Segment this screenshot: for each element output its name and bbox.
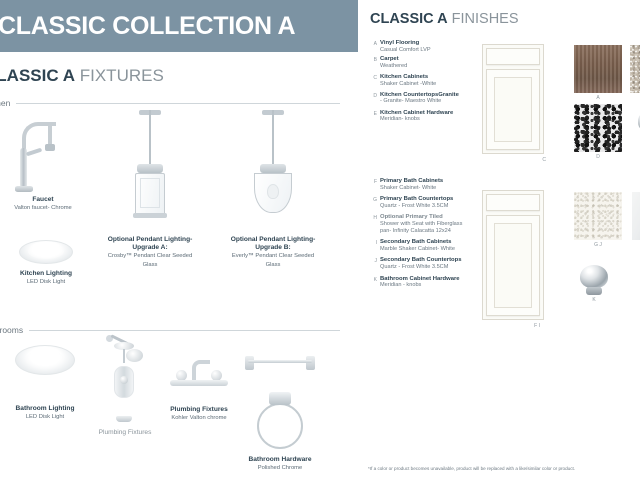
legend-item: K Bathroom Cabinet Hardware Meridian - k… xyxy=(368,276,472,289)
pendant-b-icon xyxy=(236,110,310,228)
legend-title: Primary Bath Countertops xyxy=(380,196,453,202)
legend-key: A xyxy=(368,40,380,53)
kitchen-cabinet-door-swatch: C xyxy=(482,44,544,154)
finishes-heading-bold: CLASSIC A xyxy=(370,11,448,27)
legend-title: Carpet xyxy=(380,56,399,62)
legend-title: Kitchen Cabinet Hardware xyxy=(380,110,453,116)
swatch-label: C xyxy=(542,157,546,163)
legend-desc: Shower with Seat with Fiberglass pan- In… xyxy=(380,221,472,234)
fixture-caption: Optional Pendant Lighting- Upgrade B: Ev… xyxy=(228,236,318,269)
legend-item: A Vinyl Flooring Casual Comfort LVP xyxy=(368,40,472,53)
legend-key: B xyxy=(368,56,380,69)
fixture-desc: LED Disk Light xyxy=(5,413,85,421)
legend-key: F xyxy=(368,178,380,191)
fixture-caption: Faucet Valton faucet- Chrome xyxy=(0,196,86,212)
bath-cabinet-door-swatch: F I xyxy=(482,190,544,320)
fixture-faucet: Faucet Valton faucet- Chrome xyxy=(0,118,86,212)
fixture-bathroom-lighting: Bathroom Lighting LED Disk Light xyxy=(5,345,85,421)
footnote: *If a color or product becomes unavailab… xyxy=(368,466,636,471)
towel-ring-icon xyxy=(251,392,309,454)
section-label-bathrooms: Bathrooms xyxy=(0,325,29,335)
legend-title: Kitchen Cabinets xyxy=(380,74,428,80)
legend-title: Kitchen Countertops xyxy=(380,92,438,98)
legend-title: Secondary Bath Cabinets xyxy=(380,239,451,245)
finishes-legend-bath: F Primary Bath Cabinets Shaker Cabinet- … xyxy=(368,178,472,292)
fixture-caption: Kitchen Lighting LED Disk Light xyxy=(8,270,84,286)
fixture-pendant-a: Optional Pendant Lighting- Upgrade A: Cr… xyxy=(105,110,195,269)
legend-item: D Kitchen CountertopsGranite - Granite- … xyxy=(368,92,472,105)
fixture-caption: Bathroom Lighting LED Disk Light xyxy=(5,405,85,421)
swatch-label: K xyxy=(592,297,595,303)
cabinet-door-art xyxy=(482,44,544,154)
section-header-kitchen: Kitchen xyxy=(0,98,340,108)
fixture-desc: Everly™ Pendant Clear Seeded Glass xyxy=(228,252,318,268)
legend-item: F Primary Bath Cabinets Shaker Cabinet- … xyxy=(368,178,472,191)
finishes-legend-kitchen: A Vinyl Flooring Casual Comfort LVP B Ca… xyxy=(368,40,472,126)
section-header-bathrooms: Bathrooms xyxy=(0,325,340,335)
finishes-heading: CLASSIC A FINISHES xyxy=(370,11,519,27)
legend-desc: Quartz - Frost White 3.5CM xyxy=(380,264,462,271)
legend-item: I Secondary Bath Cabinets Marble Shaker … xyxy=(368,239,472,252)
fixture-lav-faucet: Plumbing Fixtures Kohler Valton chrome xyxy=(160,350,238,422)
legend-key: K xyxy=(368,276,380,289)
legend-item: J Secondary Bath Countertops Quartz - Fr… xyxy=(368,257,472,270)
legend-title: Optional Primary Tiled xyxy=(380,214,443,220)
shower-tile-swatch: H xyxy=(632,192,640,240)
disk-light-icon xyxy=(15,345,75,379)
fixtures-heading-light: FIXTURES xyxy=(80,66,164,85)
fixture-desc: Kohler Valton chrome xyxy=(160,414,238,422)
legend-desc: Shaker Cabinet -White xyxy=(380,81,436,88)
section-rule xyxy=(29,330,340,331)
legend-key: C xyxy=(368,74,380,87)
bath-knob-swatch: K xyxy=(580,265,608,295)
knob-icon xyxy=(580,265,608,295)
fixture-desc: Valton faucet- Chrome xyxy=(0,204,86,212)
tub-valve-icon xyxy=(105,342,145,434)
legend-desc: Shaker Cabinet- White xyxy=(380,185,443,192)
swatch-label: A xyxy=(596,95,599,101)
fixture-tub-valve xyxy=(84,340,166,434)
collection-banner: CLASSIC COLLECTION A xyxy=(0,0,358,52)
towel-bar xyxy=(240,348,320,382)
legend-item: B Carpet Weathered xyxy=(368,56,472,69)
disk-light-icon xyxy=(19,240,73,266)
legend-desc: Quartz - Frost White 3.5CM xyxy=(380,203,453,210)
pendant-a-icon xyxy=(113,110,187,228)
cabinet-door-art xyxy=(482,190,544,320)
swatch-art xyxy=(630,45,640,93)
lav-faucet-icon xyxy=(168,350,230,392)
legend-key: E xyxy=(368,110,380,123)
fixture-desc: Polished Chrome xyxy=(238,464,322,472)
fixture-title: Faucet xyxy=(0,196,86,204)
section-label-kitchen: Kitchen xyxy=(0,98,16,108)
fixture-title: Plumbing Fixtures xyxy=(160,406,238,414)
fixture-caption: Plumbing Fixtures Kohler Valton chrome xyxy=(160,406,238,422)
legend-title-sub: Granite xyxy=(438,92,459,98)
fixture-title: Kitchen Lighting xyxy=(8,270,84,278)
fixture-title: Bathroom Lighting xyxy=(5,405,85,413)
swatch-art xyxy=(574,192,622,240)
fixture-title: Optional Pendant Lighting- Upgrade B: xyxy=(228,236,318,252)
swatch-art xyxy=(632,192,640,240)
legend-desc: Weathered xyxy=(380,63,407,70)
legend-item: H Optional Primary Tiled Shower with Sea… xyxy=(368,214,472,234)
legend-title: Primary Bath Cabinets xyxy=(380,178,443,184)
fixture-kitchen-lighting: Kitchen Lighting LED Disk Light xyxy=(8,240,84,286)
legend-key: H xyxy=(368,214,380,234)
legend-title: Vinyl Flooring xyxy=(380,40,419,46)
quartz-countertop-swatch: G J xyxy=(574,192,622,240)
spec-sheet-page: CLASSIC COLLECTION A CLASSIC A FIXTURES … xyxy=(0,0,640,480)
fixture-title: Optional Pendant Lighting- Upgrade A: xyxy=(105,236,195,252)
page-title: CLASSIC COLLECTION A xyxy=(0,12,295,41)
swatch-label: G J xyxy=(594,242,602,248)
fixture-pendant-b: Optional Pendant Lighting- Upgrade B: Ev… xyxy=(228,110,318,269)
left-column: CLASSIC COLLECTION A CLASSIC A FIXTURES … xyxy=(0,0,358,480)
legend-item: C Kitchen Cabinets Shaker Cabinet -White xyxy=(368,74,472,87)
swatch-art xyxy=(574,104,622,152)
legend-key: D xyxy=(368,92,380,105)
fixture-caption: Optional Pendant Lighting- Upgrade A: Cr… xyxy=(105,236,195,269)
finishes-heading-light: FINISHES xyxy=(452,11,519,27)
fixture-desc: LED Disk Light xyxy=(8,278,84,286)
legend-item: E Kitchen Cabinet Hardware Meridian- kno… xyxy=(368,110,472,123)
swatch-label: F I xyxy=(534,323,540,329)
legend-desc: Casual Comfort LVP xyxy=(380,47,431,54)
swatch-label: D xyxy=(596,154,600,160)
legend-item: G Primary Bath Countertops Quartz - Fros… xyxy=(368,196,472,209)
legend-key: G xyxy=(368,196,380,209)
granite-countertop-swatch: D xyxy=(574,104,622,152)
legend-desc: Meridian- knobs xyxy=(380,116,453,123)
fixture-title: Bathroom Hardware xyxy=(238,456,322,464)
fixture-desc: Crosby™ Pendant Clear Seeded Glass xyxy=(105,252,195,268)
vinyl-flooring-swatch: A xyxy=(574,45,622,93)
towel-bar-icon xyxy=(242,348,318,382)
section-rule xyxy=(16,103,340,104)
fixtures-heading: CLASSIC A FIXTURES xyxy=(0,66,164,86)
legend-desc: - Granite- Maestro White xyxy=(380,98,459,105)
faucet-icon xyxy=(14,118,72,196)
fixture-caption: Bathroom Hardware Polished Chrome xyxy=(238,456,322,472)
legend-title: Bathroom Cabinet Hardware xyxy=(380,276,460,282)
legend-desc: Marble Shaker Cabinet- White xyxy=(380,246,455,253)
legend-desc: Meridian - knobs xyxy=(380,282,460,289)
legend-title: Secondary Bath Countertops xyxy=(380,257,462,263)
right-column: CLASSIC A FINISHES A Vinyl Flooring Casu… xyxy=(362,0,640,480)
swatch-art xyxy=(574,45,622,93)
legend-key: J xyxy=(368,257,380,270)
carpet-swatch: B xyxy=(630,45,640,93)
fixture-bathroom-hardware: Bathroom Hardware Polished Chrome xyxy=(238,392,322,472)
legend-key: I xyxy=(368,239,380,252)
fixtures-heading-bold: CLASSIC A xyxy=(0,66,75,85)
